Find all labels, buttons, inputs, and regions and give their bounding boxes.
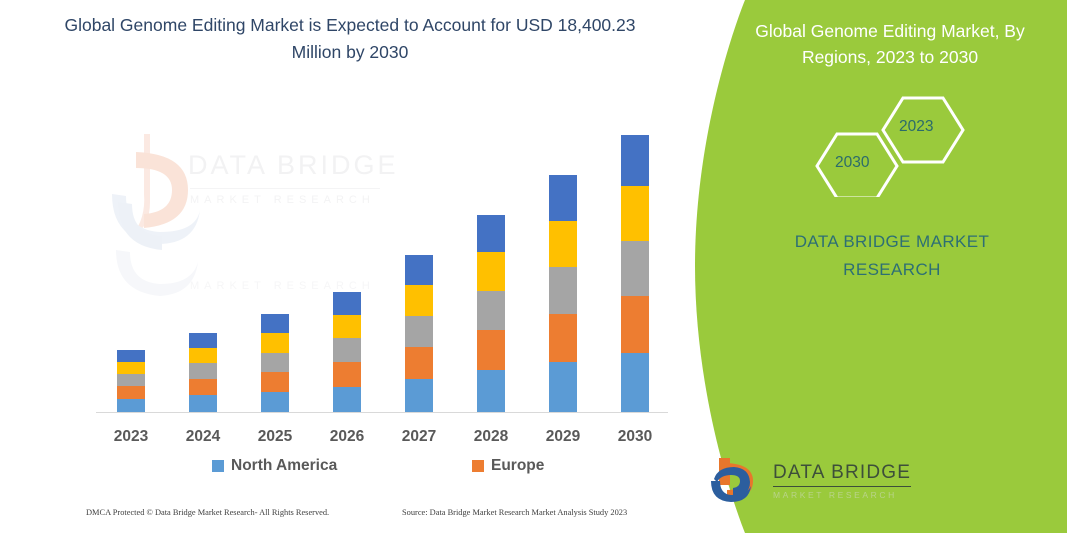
bar-segment-2030-europe xyxy=(621,296,649,353)
bar-2030[interactable] xyxy=(621,135,649,412)
x-label-2025: 2025 xyxy=(245,428,305,446)
bar-2027[interactable] xyxy=(405,255,433,412)
bar-segment-2027-north-america xyxy=(405,379,433,412)
bar-segment-2030-series-4 xyxy=(621,186,649,241)
hexagon-label-2030: 2030 xyxy=(835,154,869,172)
bar-2023[interactable] xyxy=(117,350,145,412)
bar-segment-2028-series-5 xyxy=(477,215,505,252)
bar-segment-2026-series-3 xyxy=(333,338,361,362)
bar-segment-2023-series-5 xyxy=(117,350,145,362)
bar-2025[interactable] xyxy=(261,314,289,412)
bar-segment-2029-series-3 xyxy=(549,267,577,314)
panel-title: Global Genome Editing Market, By Regions… xyxy=(735,18,1045,70)
infographic-root: Global Genome Editing Market is Expected… xyxy=(0,0,1067,533)
bar-segment-2027-series-3 xyxy=(405,316,433,347)
hexagon-label-2023: 2023 xyxy=(899,118,933,136)
bar-segment-2026-series-4 xyxy=(333,315,361,338)
bar-segment-2029-series-4 xyxy=(549,221,577,267)
bar-segment-2024-series-5 xyxy=(189,333,217,348)
panel-brand-line-2: RESEARCH xyxy=(747,256,1037,284)
brand-logo: DATA BRIDGE MARKET RESEARCH xyxy=(699,451,1049,511)
x-label-2028: 2028 xyxy=(461,428,521,446)
bar-segment-2024-north-america xyxy=(189,395,217,412)
legend-label-europe: Europe xyxy=(491,457,544,475)
bar-2024[interactable] xyxy=(189,333,217,412)
x-axis-line xyxy=(96,412,668,413)
logo-title: DATA BRIDGE xyxy=(773,462,911,487)
bar-segment-2024-series-3 xyxy=(189,363,217,379)
bar-segment-2029-europe xyxy=(549,314,577,362)
bar-segment-2026-europe xyxy=(333,362,361,387)
legend-swatch-north-america xyxy=(212,460,224,472)
bar-segment-2025-europe xyxy=(261,372,289,392)
bar-2029[interactable] xyxy=(549,175,577,412)
bar-segment-2029-north-america xyxy=(549,362,577,412)
bar-segment-2026-series-5 xyxy=(333,292,361,315)
x-label-2027: 2027 xyxy=(389,428,449,446)
bar-2028[interactable] xyxy=(477,215,505,412)
hexagon-outline-icon xyxy=(795,92,1045,197)
bar-segment-2030-series-3 xyxy=(621,241,649,296)
chart-legend: North America Europe xyxy=(0,455,700,479)
bar-segment-2025-series-3 xyxy=(261,353,289,372)
bar-segment-2028-series-3 xyxy=(477,291,505,330)
bar-segment-2023-series-4 xyxy=(117,362,145,374)
x-label-2029: 2029 xyxy=(533,428,593,446)
x-label-2024: 2024 xyxy=(173,428,233,446)
bar-segment-2026-north-america xyxy=(333,387,361,412)
legend-item-north-america[interactable]: North America xyxy=(212,457,337,475)
bar-segment-2028-europe xyxy=(477,330,505,370)
bar-segment-2024-series-4 xyxy=(189,348,217,363)
x-axis-tick-labels: 20232024202520262027202820292030 xyxy=(0,428,700,454)
bar-segment-2028-series-4 xyxy=(477,252,505,291)
footer-source: Source: Data Bridge Market Research Mark… xyxy=(402,508,627,517)
data-bridge-logo-icon xyxy=(709,455,761,507)
legend-swatch-europe xyxy=(472,460,484,472)
bar-segment-2024-europe xyxy=(189,379,217,395)
legend-item-europe[interactable]: Europe xyxy=(472,457,544,475)
footer: DMCA Protected © Data Bridge Market Rese… xyxy=(0,508,700,528)
bar-segment-2025-series-5 xyxy=(261,314,289,333)
bar-segment-2023-europe xyxy=(117,386,145,399)
bar-segment-2025-north-america xyxy=(261,392,289,412)
green-side-panel: Global Genome Editing Market, By Regions… xyxy=(687,0,1067,533)
bar-segment-2027-series-5 xyxy=(405,255,433,285)
hexagon-badges: 2030 2023 xyxy=(795,92,1045,197)
footer-copyright: DMCA Protected © Data Bridge Market Rese… xyxy=(86,508,329,517)
bar-segment-2030-north-america xyxy=(621,353,649,412)
bar-segment-2028-north-america xyxy=(477,370,505,412)
bar-segment-2023-series-3 xyxy=(117,374,145,386)
bar-2026[interactable] xyxy=(333,292,361,412)
bar-segment-2027-series-4 xyxy=(405,285,433,316)
chart-area: Global Genome Editing Market is Expected… xyxy=(0,0,700,533)
logo-subtitle: MARKET RESEARCH xyxy=(773,490,911,500)
legend-label-north-america: North America xyxy=(231,457,337,475)
logo-text: DATA BRIDGE MARKET RESEARCH xyxy=(773,462,911,500)
x-label-2026: 2026 xyxy=(317,428,377,446)
bar-segment-2029-series-5 xyxy=(549,175,577,221)
panel-brand-line-1: DATA BRIDGE MARKET xyxy=(747,228,1037,256)
bar-segment-2030-series-5 xyxy=(621,135,649,186)
bar-segment-2023-north-america xyxy=(117,399,145,412)
bar-segment-2027-europe xyxy=(405,347,433,379)
x-label-2023: 2023 xyxy=(101,428,161,446)
bar-segment-2025-series-4 xyxy=(261,333,289,353)
x-label-2030: 2030 xyxy=(605,428,665,446)
panel-brand: DATA BRIDGE MARKET RESEARCH xyxy=(747,228,1037,284)
